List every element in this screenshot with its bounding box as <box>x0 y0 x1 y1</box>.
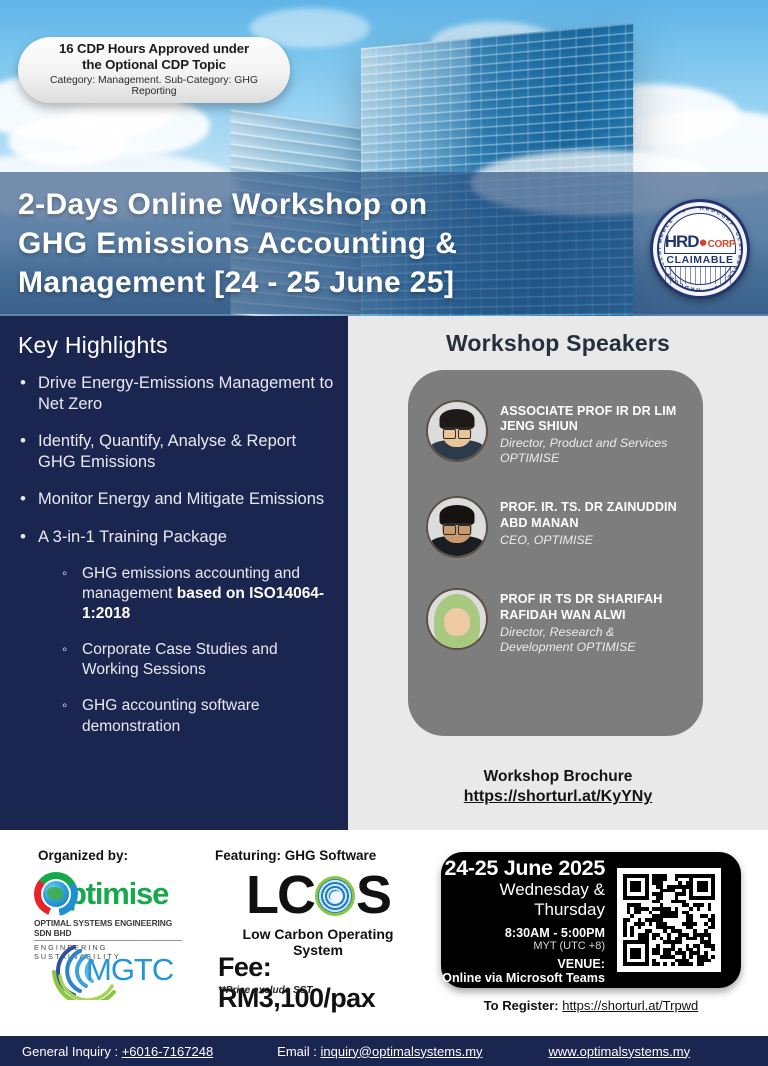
fee-amount: Fee: RM3,100/pax <box>218 952 428 1014</box>
optimise-wordmark: ptimise <box>68 876 168 912</box>
event-date: 24-25 June 2025 <box>441 856 605 881</box>
key-highlights-title: Key Highlights <box>18 332 334 359</box>
speaker-item: PROF IR TS DR SHARIFAH RAFIDAH WAN ALWI … <box>426 588 687 654</box>
speaker-role: CEO, OPTIMISE <box>500 533 687 548</box>
key-highlights-sublist: GHG emissions accounting and management … <box>62 564 334 737</box>
avatar <box>426 496 488 558</box>
featuring-label: Featuring: GHG Software <box>215 848 376 863</box>
lcos-ring-icon <box>315 876 355 916</box>
lcos-logo: LC S Low Carbon Operating System <box>218 870 418 958</box>
title-line-1: 2-Days Online Workshop on <box>18 188 428 221</box>
speaker-role: Director, Research & Development OPTIMIS… <box>500 625 687 655</box>
glasses-icon <box>443 523 471 531</box>
optimise-mark-icon <box>34 872 78 916</box>
glasses-icon <box>443 427 471 435</box>
email-contact: Email : inquiry@optimalsystems.my <box>277 1044 482 1059</box>
register-link[interactable]: https://shorturl.at/Trpwd <box>562 998 698 1013</box>
key-highlights-list: Drive Energy-Emissions Management to Net… <box>18 373 334 737</box>
speakers-card: ASSOCIATE PROF IR DR LIM JENG SHIUN Dire… <box>408 370 703 736</box>
general-inquiry-value[interactable]: +6016-7167248 <box>122 1044 213 1059</box>
qr-code[interactable] <box>617 868 721 972</box>
list-item: A 3-in-1 Training Package GHG emissions … <box>18 527 334 737</box>
lcos-right-letter: S <box>356 870 390 921</box>
mgtc-logo: MGTC <box>34 940 184 1002</box>
sub-list-item: GHG emissions accounting and management … <box>62 564 334 624</box>
venue-value: Online via Microsoft Teams <box>441 971 605 985</box>
bottom-section: Organized by: Featuring: GHG Software pt… <box>0 830 768 1036</box>
brochure-block: Workshop Brochure https://shorturl.at/Ky… <box>348 768 768 806</box>
optimise-company-name: OPTIMAL SYSTEMS ENGINEERING SDN BHD <box>34 918 182 941</box>
seal-brand-suffix: CORP <box>708 239 736 250</box>
contact-footer: General Inquiry : +6016-7167248 Email : … <box>0 1036 768 1066</box>
page-title: 2-Days Online Workshop on GHG Emissions … <box>0 185 457 302</box>
list-item: Identify, Quantify, Analyse & Report GHG… <box>18 431 334 473</box>
avatar <box>426 588 488 650</box>
event-timezone: MYT (UTC +8) <box>441 940 605 952</box>
date-venue-box: 24-25 June 2025 Wednesday & Thursday 8:3… <box>441 852 741 988</box>
cdp-badge-category: Category: Management. Sub-Category: GHG … <box>28 75 280 97</box>
venue-label: VENUE: <box>441 957 605 971</box>
key-highlights-panel: Key Highlights Drive Energy-Emissions Ma… <box>0 316 348 830</box>
event-time: 8:30AM - 5:00PM <box>441 926 605 940</box>
speaker-item: ASSOCIATE PROF IR DR LIM JENG SHIUN Dire… <box>426 400 687 466</box>
website-link[interactable]: www.optimalsystems.my <box>549 1044 691 1059</box>
event-days: Wednesday & Thursday <box>441 880 605 920</box>
cdp-hours-badge: 16 CDP Hours Approved under the Optional… <box>18 37 290 103</box>
brochure-label: Workshop Brochure <box>348 768 768 786</box>
website-value[interactable]: www.optimalsystems.my <box>549 1044 691 1059</box>
mgtc-wordmark: MGTC <box>86 952 173 988</box>
register-line: To Register: https://shorturl.at/Trpwd <box>441 998 741 1013</box>
lcos-left-letters: LC <box>246 870 314 921</box>
list-item-label: A 3-in-1 Training Package <box>38 528 227 546</box>
speaker-name: PROF. IR. TS. DR ZAINUDDIN ABD MANAN <box>500 500 687 530</box>
email-label: Email : <box>277 1044 320 1059</box>
brochure-link[interactable]: https://shorturl.at/KyYNy <box>348 788 768 806</box>
register-label: To Register: <box>484 998 559 1013</box>
workshop-poster: 16 CDP Hours Approved under the Optional… <box>0 0 768 1066</box>
list-item: Monitor Energy and Mitigate Emissions <box>18 489 334 510</box>
seal-brand: HRD <box>665 232 699 252</box>
speaker-item: PROF. IR. TS. DR ZAINUDDIN ABD MANAN CEO… <box>426 496 687 558</box>
sub-list-item: Corporate Case Studies and Working Sessi… <box>62 640 334 680</box>
hrdcorp-claimable-seal: HRDCORP CLAIMABLE • HRDCORP CLAIMABLE • … <box>650 199 750 299</box>
general-inquiry: General Inquiry : +6016-7167248 <box>22 1044 213 1059</box>
workshop-speakers-title: Workshop Speakers <box>348 330 768 357</box>
list-item: Drive Energy-Emissions Management to Net… <box>18 373 334 415</box>
avatar <box>426 400 488 462</box>
general-inquiry-label: General Inquiry : <box>22 1044 122 1059</box>
email-value[interactable]: inquiry@optimalsystems.my <box>321 1044 483 1059</box>
title-line-3: Management [24 - 25 June 25] <box>18 266 454 299</box>
speaker-name: PROF IR TS DR SHARIFAH RAFIDAH WAN ALWI <box>500 592 687 622</box>
seal-status: CLAIMABLE <box>664 253 735 267</box>
sub-list-item: GHG accounting software demonstration <box>62 696 334 736</box>
seal-inner: HRD ● CORP CLAIMABLE <box>664 213 736 285</box>
speaker-name: ASSOCIATE PROF IR DR LIM JENG SHIUN <box>500 404 687 434</box>
fee-note: **Price exclude SST <box>218 985 313 996</box>
speaker-role: Director, Product and Services OPTIMISE <box>500 436 687 466</box>
workshop-speakers-panel: Workshop Speakers ASSOCIATE PROF IR DR L… <box>348 316 768 830</box>
organized-by-label: Organized by: <box>38 848 128 863</box>
title-line-2: GHG Emissions Accounting & <box>18 227 457 260</box>
cdp-badge-line2: the Optional CDP Topic <box>82 57 226 72</box>
seal-dot-icon: ● <box>699 234 708 251</box>
cdp-badge-line1: 16 CDP Hours Approved under <box>59 41 249 56</box>
